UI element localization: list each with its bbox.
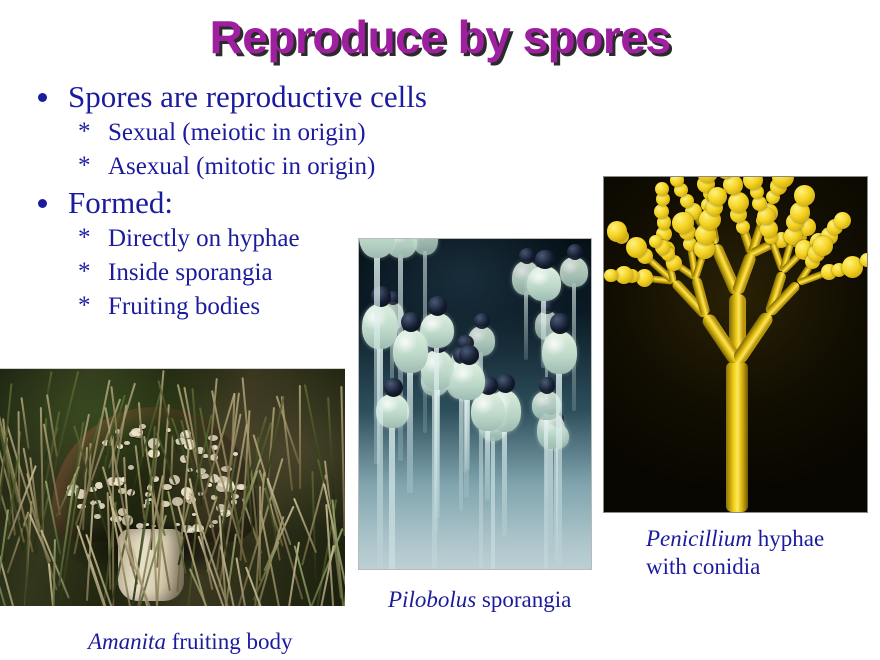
sporangiophore-stalk — [485, 427, 490, 501]
list-item: Formed: — [0, 184, 600, 222]
vesicle — [542, 331, 578, 374]
sporangiophore-stalk — [465, 396, 471, 470]
sporangium — [428, 296, 448, 316]
sporangiophore-stalk — [459, 395, 464, 511]
sporangiophore-stalk — [407, 369, 413, 492]
sporangiophore-stalk — [374, 254, 380, 464]
sporangium — [496, 374, 515, 393]
vesicle — [362, 304, 398, 349]
grass-blade — [340, 386, 345, 536]
list-item-label: Spores are reproductive cells — [68, 79, 427, 114]
caption-genus: Pilobolus — [388, 587, 476, 612]
sporangium — [519, 248, 535, 264]
page-title: Reproduce by spores — [0, 10, 880, 64]
list-item: * Asexual (mitotic in origin) — [0, 150, 600, 184]
asterisk-bullet-icon: * — [78, 289, 91, 323]
cap-wart — [129, 431, 137, 437]
sporangium — [459, 345, 479, 365]
list-item-label: Sexual (meiotic in origin) — [108, 119, 366, 146]
asterisk-bullet-icon: * — [78, 221, 91, 255]
conidium — [708, 187, 728, 207]
cap-wart — [128, 465, 134, 470]
penicillium-photo — [603, 176, 868, 513]
grass-blade — [20, 397, 29, 448]
conidium — [655, 182, 669, 196]
conidium — [615, 266, 633, 284]
pilobolus-photo — [358, 238, 592, 570]
caption-rest: fruiting body — [166, 629, 293, 654]
amanita-photo — [0, 368, 345, 606]
vesicle — [527, 266, 561, 301]
asterisk-bullet-icon: * — [78, 255, 91, 289]
conidium — [604, 269, 618, 283]
hypha-branch — [731, 252, 757, 296]
list-item-label: Directly on hyphae — [108, 225, 300, 252]
asterisk-bullet-icon: * — [78, 149, 91, 183]
list-item: Spores are reproductive cells — [0, 78, 600, 116]
cap-wart — [212, 520, 218, 524]
conidium — [626, 237, 647, 258]
sporangiophore-stalk — [544, 416, 549, 570]
sporangiophore-stalk — [556, 370, 562, 564]
grass-blade — [52, 539, 56, 606]
list-item: * Sexual (meiotic in origin) — [0, 116, 600, 150]
vesicle — [451, 362, 486, 400]
caption-genus: Penicillium — [646, 526, 752, 551]
caption-genus: Amanita — [88, 629, 166, 654]
penicillium-caption: Penicillium hyphaewith conidia — [646, 525, 861, 581]
conidium — [813, 236, 833, 256]
asterisk-bullet-icon: * — [78, 115, 91, 149]
cap-wart — [124, 441, 130, 445]
conidium — [794, 185, 815, 206]
sporangium — [401, 312, 421, 332]
pilobolus-caption: Pilobolus sporangia — [388, 586, 571, 614]
sporangium — [539, 377, 556, 394]
sporangiophore-stalk — [548, 445, 553, 547]
vesicle — [359, 238, 395, 258]
sporangium — [384, 378, 403, 397]
sporangium — [567, 244, 583, 260]
conidium — [860, 253, 868, 267]
sporangiophore-stalk — [389, 424, 394, 570]
conidium — [834, 212, 851, 229]
conidium — [728, 192, 749, 213]
conidium — [649, 235, 662, 248]
round-bullet-icon — [38, 93, 47, 102]
vesicle — [393, 329, 428, 373]
sporangiophore-stalk — [524, 291, 528, 360]
grass-blade — [299, 385, 301, 489]
amanita-caption: Amanita fruiting body — [88, 628, 292, 656]
caption-rest: hyphae — [752, 526, 824, 551]
conidium — [672, 212, 694, 234]
conidium — [607, 221, 628, 242]
round-bullet-icon — [38, 199, 47, 208]
sporangiophore-stalk — [434, 344, 440, 531]
vesicle — [560, 257, 588, 287]
caption-line2: with conidia — [646, 554, 760, 579]
list-item-label: Asexual (mitotic in origin) — [108, 153, 375, 180]
conidium — [670, 176, 684, 187]
list-item-label: Fruiting bodies — [108, 293, 260, 320]
sporangium — [550, 313, 571, 334]
list-item-label: Formed: — [68, 185, 173, 220]
sporangiophore-stalk — [502, 428, 507, 536]
sporangiophore-stalk — [491, 437, 495, 570]
caption-rest: sporangia — [476, 587, 571, 612]
list-item-label: Inside sporangia — [108, 259, 273, 286]
sporangium — [535, 250, 555, 270]
conidiophore-stalk — [726, 362, 748, 512]
